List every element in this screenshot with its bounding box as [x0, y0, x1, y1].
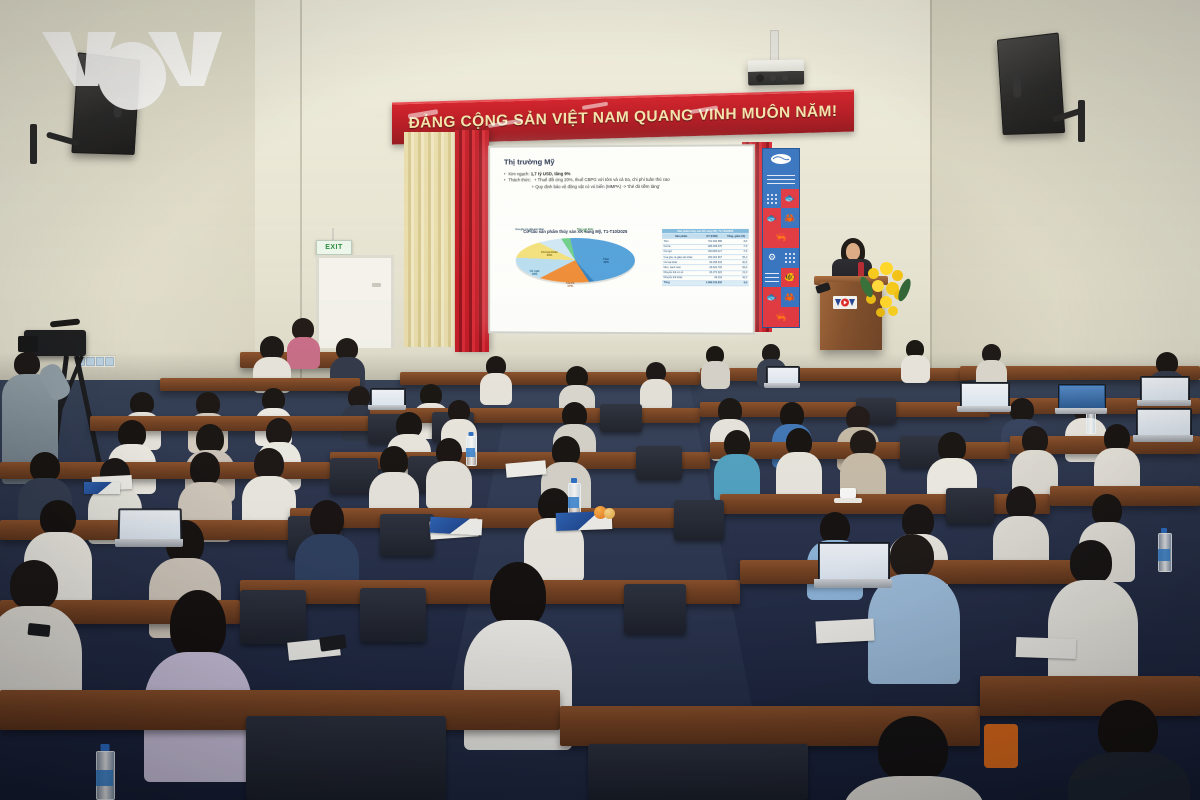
slide-title: Thị trường Mỹ: [504, 156, 745, 166]
outlet-socket: [96, 357, 105, 366]
speaker-pole-right: [1078, 100, 1085, 142]
sub-bullet-text: + Quy định bảo vệ động vật có vú biển (M…: [532, 184, 660, 191]
chair: [240, 590, 306, 644]
laptop[interactable]: [818, 542, 888, 588]
laptop-base: [115, 539, 183, 547]
chair: [380, 514, 434, 556]
chair-front: [246, 716, 446, 800]
laptop-screen: [1142, 378, 1188, 401]
bottle-label: [466, 448, 475, 457]
conference-hall-photo: ĐẢNG CỘNG SẢN VIỆT NAM QUANG VINH MUÔN N…: [0, 0, 1200, 800]
laptop-lid: [118, 508, 183, 542]
water-bottle: [466, 432, 475, 464]
document-page: [1016, 637, 1077, 659]
desk-row-a: [160, 378, 360, 391]
brochure: [430, 517, 483, 536]
orange-fruit: [604, 508, 615, 519]
bullet-text-highlight: 1,7 tỷ USD, tăng 9%: [531, 171, 571, 176]
presenter-head: [846, 243, 860, 260]
flower: [892, 270, 903, 281]
speaker-pole-left: [30, 124, 37, 164]
flower: [872, 280, 884, 292]
laptop-screen: [1060, 386, 1104, 409]
document-page: [815, 618, 874, 643]
chair: [674, 500, 724, 540]
laptop-lid: [1140, 376, 1190, 403]
exit-sign: EXIT: [316, 240, 352, 255]
door-handle[interactable]: [372, 283, 381, 287]
decor-crab-icon: 🦀: [781, 208, 799, 228]
bottle-label: [96, 770, 113, 786]
desk-row-d: [290, 508, 720, 528]
laptop[interactable]: [1058, 384, 1104, 414]
saucer: [834, 498, 862, 503]
chair-front: [588, 744, 808, 800]
decor-dotgrid-icon: [781, 248, 799, 268]
laptop-screen: [768, 368, 798, 384]
pie-label-tom: Tôm 42%: [591, 258, 621, 265]
decor-shrimp-icon: 🦐: [763, 307, 799, 327]
pie-chart: Cơ cấu sản phẩm thủy sản XK sang Mỹ, T1-…: [496, 229, 655, 325]
laptop-lid: [1058, 384, 1106, 411]
outlet-socket: [86, 357, 95, 366]
exit-sign-label: EXIT: [325, 244, 343, 251]
flower: [876, 308, 885, 317]
curtain-red-left: [455, 130, 489, 352]
laptop[interactable]: [766, 366, 798, 388]
decor-logo-icon: [763, 149, 799, 169]
chair: [360, 588, 426, 642]
bullet-text-plain: Kim ngạch:: [508, 171, 530, 176]
cell-total-label: Tổng: [662, 280, 700, 285]
laptop-base: [1055, 408, 1107, 414]
table: Sản phẩm thủy sản XK sang Mỹ, T1-T10/202…: [662, 229, 749, 286]
cell-total-change: 9,0: [723, 281, 748, 286]
person-torso: [287, 337, 320, 369]
desk-front-edge: [980, 676, 1200, 716]
laptop-base: [1133, 435, 1193, 442]
table-total-row: Tổng 1.699.319.832 9,0: [662, 280, 749, 285]
speaker-port: [1012, 72, 1022, 98]
water-bottle: [96, 744, 113, 798]
projection-screen: Thị trường Mỹ • Kim ngạch: 1,7 tỷ USD, t…: [488, 144, 755, 334]
outlet-socket: [105, 357, 114, 366]
laptop[interactable]: [1136, 408, 1190, 442]
wall-speaker-left: [71, 52, 140, 155]
flower-arrangement: [862, 262, 912, 328]
laptop-screen: [120, 510, 181, 540]
laptop[interactable]: [370, 388, 404, 410]
ceiling-projector: [748, 60, 804, 86]
slide-data-table: Sản phẩm thủy sản XK sang Mỹ, T1-T10/202…: [662, 229, 749, 286]
seafood-decor-banner: 🐟 🐟 🦀 🦐 ⚙ 🐠 🐟 🦀 🦐: [762, 148, 800, 328]
decor-shrimp-icon: 🦐: [763, 228, 799, 248]
chair: [624, 584, 686, 634]
flower: [888, 306, 898, 316]
pie-label-cuaghe: Cua ghẹ và giáp xác khác 6%: [512, 229, 548, 235]
laptop-base: [368, 405, 406, 410]
laptop-lid: [1136, 408, 1192, 438]
laptop-lid: [960, 382, 1010, 409]
pie-wrap: Tôm 42% Cá tra 17% Cá ngừ 18% Cá loại kh…: [516, 238, 635, 300]
curtain-gold-left: [404, 132, 462, 347]
cell-total-value: 1.699.319.832: [700, 281, 723, 286]
chair: [946, 488, 994, 524]
water-bottle: [1158, 528, 1170, 570]
laptop[interactable]: [960, 382, 1008, 412]
laptop-base: [814, 579, 892, 588]
projector-vent: [770, 75, 776, 81]
water-bottle: [568, 478, 579, 516]
bottle-label: [1158, 549, 1170, 561]
podium-logo: [833, 296, 857, 309]
brochure: [84, 482, 120, 494]
speaker-port: [113, 92, 122, 118]
projector-mount: [770, 30, 779, 64]
decor-dotgrid-icon: [763, 189, 781, 209]
laptop-base: [957, 406, 1011, 412]
laptop-screen: [372, 390, 404, 406]
slide-content: Thị trường Mỹ • Kim ngạch: 1,7 tỷ USD, t…: [490, 146, 753, 332]
laptop-base: [1137, 400, 1191, 406]
foliage: [896, 277, 913, 303]
pie-label-cangu: Cá ngừ 18%: [522, 269, 548, 276]
person-hair: [14, 352, 40, 376]
flower: [880, 262, 893, 275]
exit-door[interactable]: [316, 255, 394, 348]
pie-label-caloaikhac: Cá loại khác 10%: [536, 251, 564, 258]
table-body: Tôm 701.943.586 8,6 Cá tra 286.499.370 -…: [662, 239, 749, 286]
pie-label-catra: Cá tra 17%: [557, 282, 583, 289]
bottle-cap: [100, 744, 109, 751]
chair: [636, 446, 682, 480]
flower: [868, 268, 879, 279]
decor-fish-icon: 🐟: [763, 287, 781, 307]
pie-label-thuysankhac: Thủy sản khác 4%: [571, 229, 599, 235]
laptop-screen: [1138, 410, 1190, 436]
laptop-base: [764, 383, 800, 388]
decor-fish-icon: 🐠: [781, 268, 799, 288]
laptop[interactable]: [118, 508, 180, 548]
bottle-label: [568, 497, 579, 508]
laptop-screen: [962, 384, 1008, 407]
decor-wheel-icon: ⚙: [763, 248, 781, 268]
bullet-text: Thách thức:: [508, 178, 531, 184]
decor-crab-icon: 🦀: [781, 287, 799, 307]
slide-sub-bullet: + Quy định bảo vệ động vật có vú biển (M…: [532, 183, 745, 190]
laptop-lid: [818, 542, 890, 582]
decor-fish-icon: 🐟: [781, 189, 799, 209]
bullet-marker: •: [504, 178, 505, 184]
camera-lens-hood: [18, 336, 38, 352]
projector-vent: [782, 75, 788, 81]
decor-waves-icon: [763, 169, 799, 189]
laptop-screen: [820, 544, 888, 580]
smartphone[interactable]: [27, 623, 50, 637]
decor-waves-icon: [763, 268, 781, 288]
chair: [600, 404, 642, 432]
projector-lens: [756, 74, 764, 82]
orange-bag: [984, 724, 1018, 768]
desk-row-b: [700, 402, 990, 417]
desk-row-d: [1050, 486, 1200, 506]
decor-fish-icon: 🐟: [763, 208, 781, 228]
laptop[interactable]: [1140, 376, 1188, 406]
desk-row-d: [720, 494, 1050, 514]
